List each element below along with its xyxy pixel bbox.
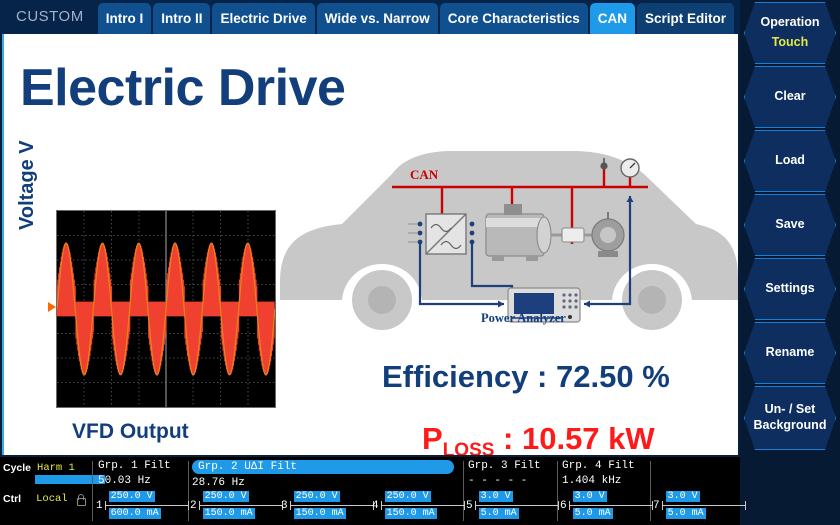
sidebar-item-sublabel: Touch xyxy=(772,35,809,51)
sidebar-item-clear[interactable]: Clear xyxy=(744,66,836,128)
group-title: Grp. 1 Filt xyxy=(98,460,171,472)
channel-number: 5 xyxy=(466,500,473,512)
channel-4[interactable]: 4 250.0 V 150.0 mA xyxy=(372,491,465,521)
tab-bar: CUSTOM Intro I Intro II Electric Drive W… xyxy=(0,0,740,34)
custom-label: CUSTOM xyxy=(0,8,98,34)
trigger-marker-icon xyxy=(48,302,56,312)
sidebar-item-label: Un- / Set xyxy=(765,402,816,418)
sidebar-item-operation[interactable]: Operation Touch xyxy=(744,2,836,64)
group-1-header: Grp. 1 Filt 50.03 Hz xyxy=(98,460,171,487)
ploss-subscript: LOSS xyxy=(443,440,495,455)
channel-5[interactable]: 5 3.0 V 5.0 mA xyxy=(466,491,559,521)
channel-voltage: 3.0 V xyxy=(666,491,700,502)
channel-2[interactable]: 2 250.0 V 150.0 mA xyxy=(190,491,283,521)
channel-current: 5.0 mA xyxy=(666,508,706,519)
channel-current: 150.0 mA xyxy=(385,508,437,519)
channel-current: 5.0 mA xyxy=(479,508,519,519)
main-stage: CAN Power Analyzer Electric Drive Voltag… xyxy=(2,34,738,455)
sidebar-item-sublabel: Background xyxy=(754,418,827,434)
sidebar-item-rename[interactable]: Rename xyxy=(744,322,836,384)
channel-voltage: 250.0 V xyxy=(294,491,340,502)
channel-voltage: 250.0 V xyxy=(203,491,249,502)
channel-3[interactable]: 3 250.0 V 150.0 mA xyxy=(281,491,374,521)
channel-current: 150.0 mA xyxy=(294,508,346,519)
tab-core-characteristics[interactable]: Core Characteristics xyxy=(440,3,588,34)
channel-7[interactable]: 7 3.0 V 5.0 mA xyxy=(653,491,746,521)
ploss-value: : 10.57 kW xyxy=(494,421,654,455)
lock-icon[interactable] xyxy=(75,494,85,505)
channel-number: 6 xyxy=(560,500,567,512)
sidebar: Operation Touch Clear Load Save Settings… xyxy=(740,0,840,525)
ctrl-label: Ctrl xyxy=(3,493,21,505)
scope-y-axis-label: Voltage V xyxy=(16,140,39,230)
ctrl-value[interactable]: Local xyxy=(36,493,68,505)
sidebar-item-label: Load xyxy=(775,153,805,169)
sidebar-item-label: Operation xyxy=(760,15,819,31)
instrument-screen: CUSTOM Intro I Intro II Electric Drive W… xyxy=(0,0,840,525)
status-bar: Cycle Harm 1 Ctrl Local Grp. 1 Filt 50.0… xyxy=(0,457,740,525)
waveform-scope[interactable] xyxy=(56,210,276,408)
power-analyzer-label: Power Analyzer xyxy=(481,311,566,326)
channel-current: 600.0 mA xyxy=(109,508,161,519)
group-title: Grp. 2 UΔI Filt xyxy=(192,460,454,474)
power-loss-readout: PLOSS : 10.57 kW xyxy=(422,421,655,455)
efficiency-readout: Efficiency : 72.50 % xyxy=(382,359,670,395)
scope-caption: VFD Output xyxy=(72,420,189,444)
group-frequency: 50.03 Hz xyxy=(98,475,171,487)
group-frequency: 1.404 kHz xyxy=(562,475,635,487)
waveform-plot xyxy=(57,211,275,407)
group-frequency: - - - - - xyxy=(468,475,541,487)
sidebar-item-label: Rename xyxy=(766,345,815,361)
sidebar-item-label: Clear xyxy=(774,89,805,105)
group-title: Grp. 3 Filt xyxy=(468,460,541,472)
group-title: Grp. 4 Filt xyxy=(562,460,635,472)
channel-current: 150.0 mA xyxy=(203,508,255,519)
tab-electric-drive[interactable]: Electric Drive xyxy=(212,3,314,34)
tab-wide-vs-narrow[interactable]: Wide vs. Narrow xyxy=(317,3,438,34)
sidebar-item-settings[interactable]: Settings xyxy=(744,258,836,320)
cycle-ctrl-block: Cycle Harm 1 Ctrl Local xyxy=(3,460,91,505)
group-3-header: Grp. 3 Filt - - - - - xyxy=(468,460,541,487)
tab-can[interactable]: CAN xyxy=(590,3,635,34)
page-title: Electric Drive xyxy=(20,62,345,114)
channel-number: 4 xyxy=(372,500,379,512)
channel-6[interactable]: 6 3.0 V 5.0 mA xyxy=(560,491,653,521)
group-frequency: 28.76 Hz xyxy=(192,477,458,489)
channel-current: 5.0 mA xyxy=(573,508,613,519)
channel-number: 2 xyxy=(190,500,197,512)
sidebar-item-label: Settings xyxy=(765,281,814,297)
efficiency-label: Efficiency : xyxy=(382,359,556,394)
can-bus-label: CAN xyxy=(410,167,438,183)
channel-voltage: 3.0 V xyxy=(573,491,607,502)
group-2-header: Grp. 2 UΔI Filt 28.76 Hz xyxy=(192,460,458,489)
cycle-value[interactable]: Harm 1 xyxy=(37,462,75,474)
group-4-header: Grp. 4 Filt 1.404 kHz xyxy=(562,460,635,487)
tab-intro-1[interactable]: Intro I xyxy=(98,3,152,34)
sidebar-item-save[interactable]: Save xyxy=(744,194,836,256)
tab-script-editor[interactable]: Script Editor xyxy=(637,3,734,34)
channel-number: 3 xyxy=(281,500,288,512)
sidebar-item-label: Save xyxy=(775,217,804,233)
sidebar-item-load[interactable]: Load xyxy=(744,130,836,192)
cycle-label: Cycle xyxy=(3,462,31,474)
cycle-bar xyxy=(35,475,105,484)
channel-voltage: 3.0 V xyxy=(479,491,513,502)
channel-number: 1 xyxy=(96,500,103,512)
channel-number: 7 xyxy=(653,500,660,512)
channel-voltage: 250.0 V xyxy=(109,491,155,502)
sidebar-item-unset-background[interactable]: Un- / Set Background xyxy=(744,386,836,450)
channel-voltage: 250.0 V xyxy=(385,491,431,502)
channel-1[interactable]: 1 250.0 V 600.0 mA xyxy=(96,491,189,521)
efficiency-value: 72.50 % xyxy=(556,359,670,394)
ploss-symbol: P xyxy=(422,421,443,455)
tab-intro-2[interactable]: Intro II xyxy=(153,3,210,34)
